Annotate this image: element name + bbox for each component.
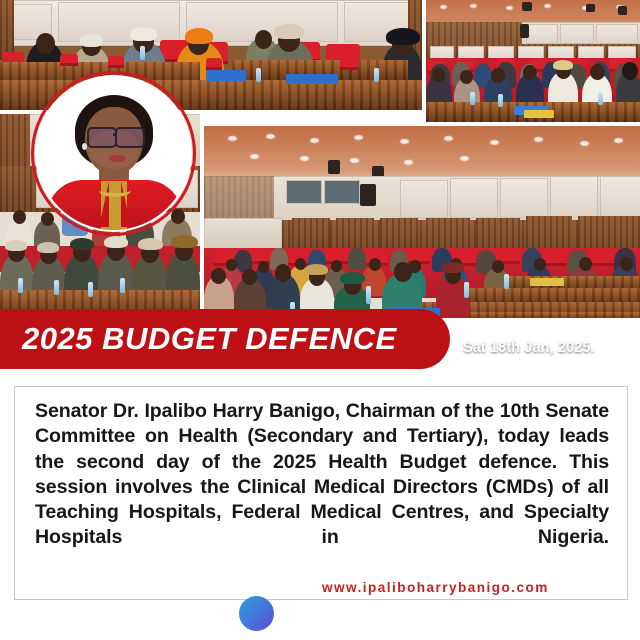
website-url[interactable]: www.ipaliboharrybanigo.com (322, 580, 549, 595)
photo-top-right (426, 0, 640, 122)
description-text: Senator Dr. Ipalibo Harry Banigo, Chairm… (35, 399, 609, 576)
portrait-ring (31, 71, 196, 236)
title-banner: 2025 BUDGET DEFENCE (0, 309, 450, 369)
poster-root: 2025 BUDGET DEFENCE Sat 18th Jan, 2025. … (0, 0, 640, 640)
portrait-inset (31, 71, 196, 236)
photo-main-chamber (204, 126, 640, 318)
event-date: Sat 18th Jan, 2025. (463, 340, 595, 356)
banner-title: 2025 BUDGET DEFENCE (22, 321, 397, 357)
description-card: Senator Dr. Ipalibo Harry Banigo, Chairm… (14, 386, 628, 600)
gradient-bubble-icon (239, 596, 274, 631)
